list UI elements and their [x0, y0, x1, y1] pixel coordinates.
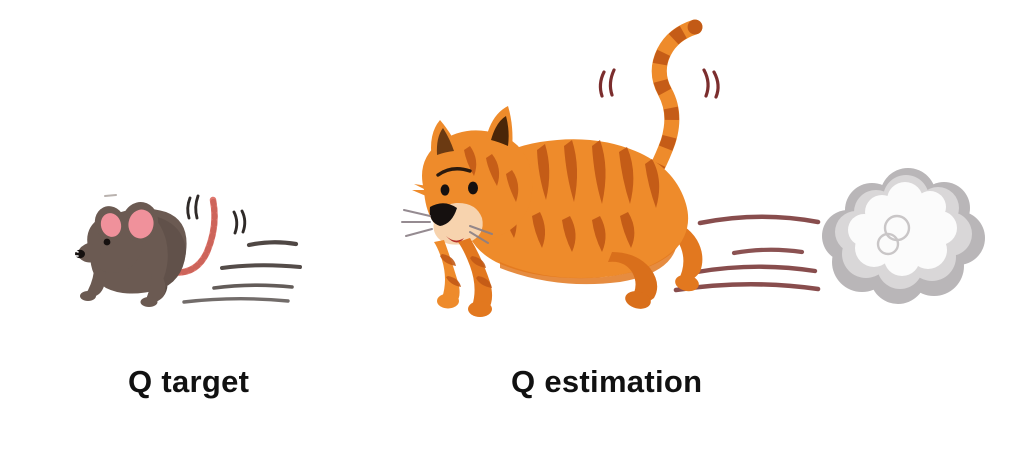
- cat-tail-tip: [688, 20, 703, 35]
- illustration-svg: [0, 0, 1030, 473]
- caption-q-estimation: Q estimation: [511, 366, 702, 397]
- mouse-speed-lines-icon: [184, 242, 300, 302]
- cat-eye-left: [441, 184, 450, 195]
- mouse-eye: [104, 239, 111, 246]
- mouse-figure: [59, 195, 300, 307]
- cat-wiggle-marks-left-icon: [600, 70, 614, 96]
- cat-wiggle-marks-right-icon: [704, 70, 718, 97]
- mouse-front-paw: [80, 291, 96, 301]
- mouse-stray-tick: [105, 195, 116, 196]
- mouse-wiggle-marks-left-icon: [188, 196, 198, 218]
- cat-figure: [402, 20, 818, 317]
- cat-cheek-tufts: [412, 184, 428, 196]
- mouse-wiggle-marks-right-icon: [234, 211, 245, 233]
- cat-eye-right: [468, 182, 478, 195]
- mouse-whiskers-icon: [59, 245, 79, 266]
- illustration-canvas: Q target Q estimation: [0, 0, 1030, 473]
- caption-q-target: Q target: [128, 366, 249, 397]
- cat-front-paw-far: [468, 301, 492, 317]
- dust-cloud-icon: [822, 168, 985, 304]
- cat-front-paw-near: [437, 294, 459, 309]
- mouse-hind-paw: [141, 297, 158, 307]
